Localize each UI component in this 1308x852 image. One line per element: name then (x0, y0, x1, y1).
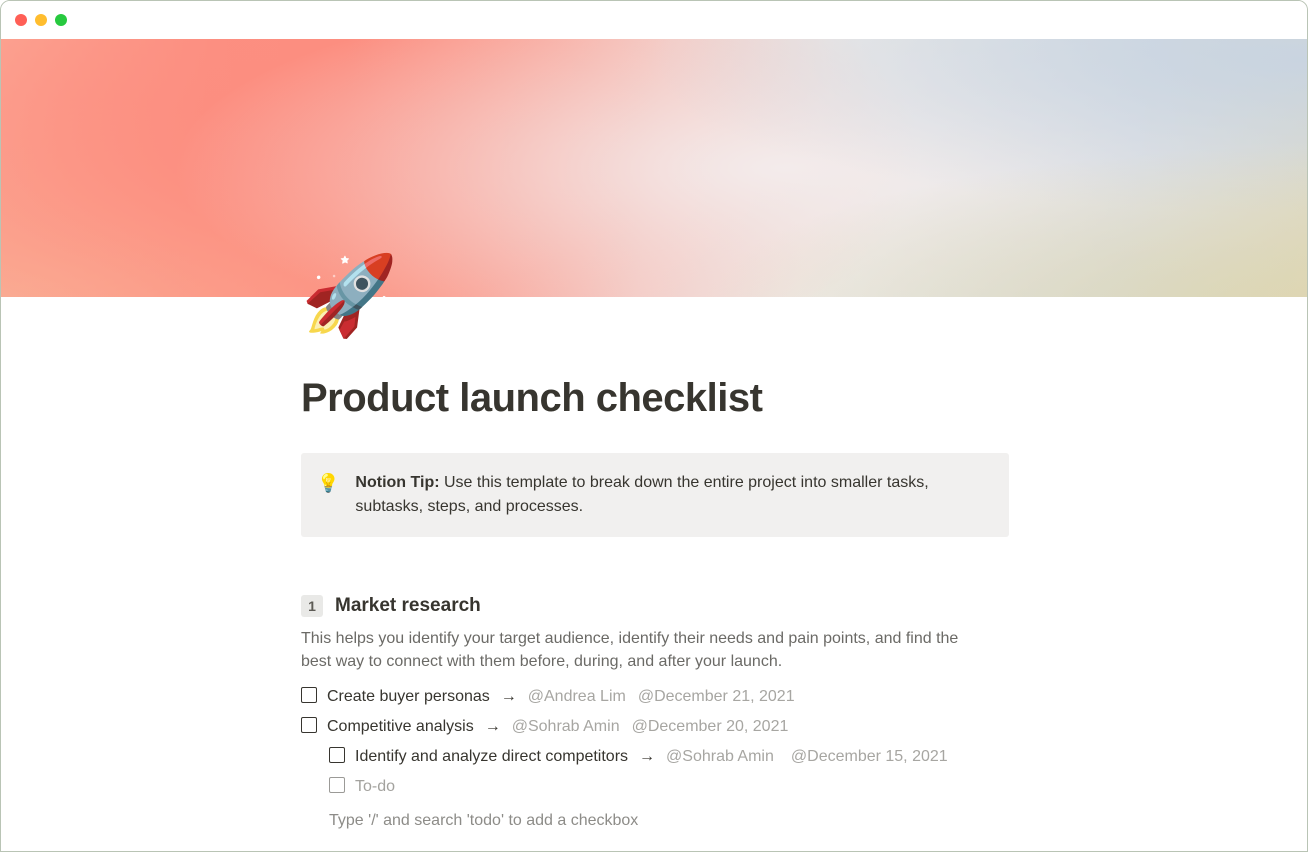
page-cover-image[interactable] (1, 39, 1307, 297)
page-icon-emoji[interactable]: 🚀 (301, 256, 398, 334)
close-window-button[interactable] (15, 14, 27, 26)
callout-text: Notion Tip: Use this template to break d… (355, 471, 991, 519)
todo-item[interactable]: Competitive analysis → @Sohrab Amin @Dec… (301, 712, 1009, 742)
page-body: Product launch checklist 💡 Notion Tip: U… (1, 297, 1307, 852)
section-description[interactable]: This helps you identify your target audi… (301, 627, 991, 673)
callout-block[interactable]: 💡 Notion Tip: Use this template to break… (301, 453, 1009, 537)
checkbox-icon[interactable] (301, 717, 317, 733)
todo-label: Competitive analysis (327, 715, 474, 739)
todo-item-empty[interactable]: To-do (329, 772, 1009, 802)
arrow-icon: → (638, 745, 656, 769)
arrow-icon: → (484, 715, 502, 739)
minimize-window-button[interactable] (35, 14, 47, 26)
section-market-research: 1 Market research This helps you identif… (301, 595, 1009, 833)
section-number-badge: 1 (301, 595, 323, 617)
section-heading: 1 Market research (301, 595, 1009, 617)
todo-item[interactable]: Identify and analyze direct competitors … (329, 742, 1009, 772)
app-window: 🚀 Product launch checklist 💡 Notion Tip:… (0, 0, 1308, 852)
callout-label: Notion Tip: (355, 474, 439, 491)
window-titlebar (1, 1, 1307, 39)
date-mention[interactable]: @December 20, 2021 (632, 715, 789, 739)
person-mention[interactable]: @Andrea Lim (528, 685, 626, 709)
todo-label: Identify and analyze direct competitors (355, 745, 628, 769)
lightbulb-icon: 💡 (317, 471, 339, 495)
todo-placeholder-label: To-do (355, 775, 395, 799)
checkbox-icon[interactable] (329, 777, 345, 793)
todo-label: Create buyer personas (327, 685, 490, 709)
callout-body: Use this template to break down the enti… (355, 474, 928, 515)
section-title[interactable]: Market research (335, 595, 481, 617)
date-mention[interactable]: @December 15, 2021 (791, 745, 948, 769)
person-mention[interactable]: @Sohrab Amin (666, 745, 774, 769)
maximize-window-button[interactable] (55, 14, 67, 26)
todo-item[interactable]: Create buyer personas → @Andrea Lim @Dec… (301, 682, 1009, 712)
traffic-lights (15, 14, 67, 26)
checkbox-icon[interactable] (301, 687, 317, 703)
todo-hint-text: Type '/' and search 'todo' to add a chec… (329, 802, 1009, 833)
arrow-icon: → (500, 685, 518, 709)
checkbox-icon[interactable] (329, 747, 345, 763)
page-content: Product launch checklist 💡 Notion Tip: U… (301, 297, 1009, 833)
person-mention[interactable]: @Sohrab Amin (512, 715, 620, 739)
page-title[interactable]: Product launch checklist (301, 375, 1009, 421)
date-mention[interactable]: @December 21, 2021 (638, 685, 795, 709)
